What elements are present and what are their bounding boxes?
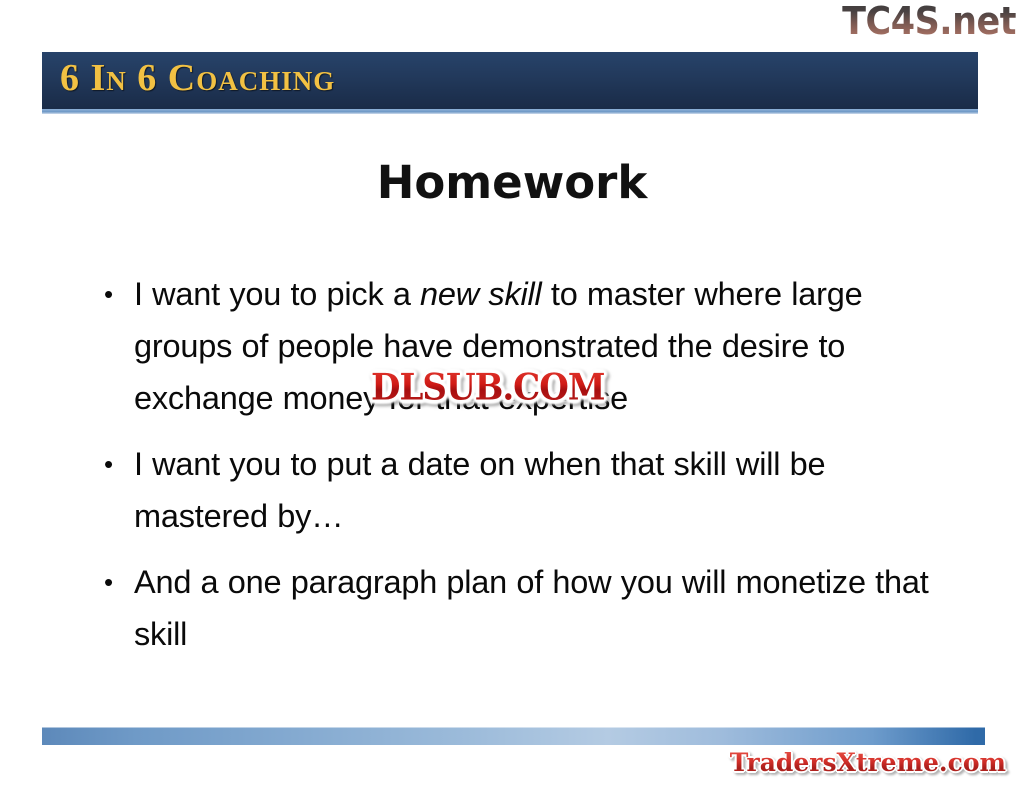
bullet-text-pre: I want you to put a date on when that sk…: [134, 446, 825, 534]
bullet-text-emphasis: new skill: [420, 276, 542, 312]
banner-underline: [42, 109, 978, 114]
tradersxtreme-watermark: TradersXtreme.com: [730, 748, 1006, 777]
page-title: Homework: [0, 156, 1024, 209]
bullet-text-pre: And a one paragraph plan of how you will…: [134, 564, 929, 652]
bullet-list: I want you to pick a new skill to master…: [96, 268, 946, 674]
coaching-banner: 6 In 6 Coaching: [42, 52, 978, 109]
list-item: I want you to put a date on when that sk…: [96, 438, 946, 542]
list-item: And a one paragraph plan of how you will…: [96, 556, 946, 660]
dlsub-watermark: DLSUB.COM: [371, 366, 604, 409]
footer-bar: [42, 727, 985, 745]
banner-title: 6 In 6 Coaching: [60, 56, 335, 100]
tc4s-watermark: TC4S.net: [842, 0, 1016, 40]
presentation-slide: TC4S.net 6 In 6 Coaching Homework I want…: [0, 0, 1024, 791]
bullet-text-pre: I want you to pick a: [134, 276, 420, 312]
